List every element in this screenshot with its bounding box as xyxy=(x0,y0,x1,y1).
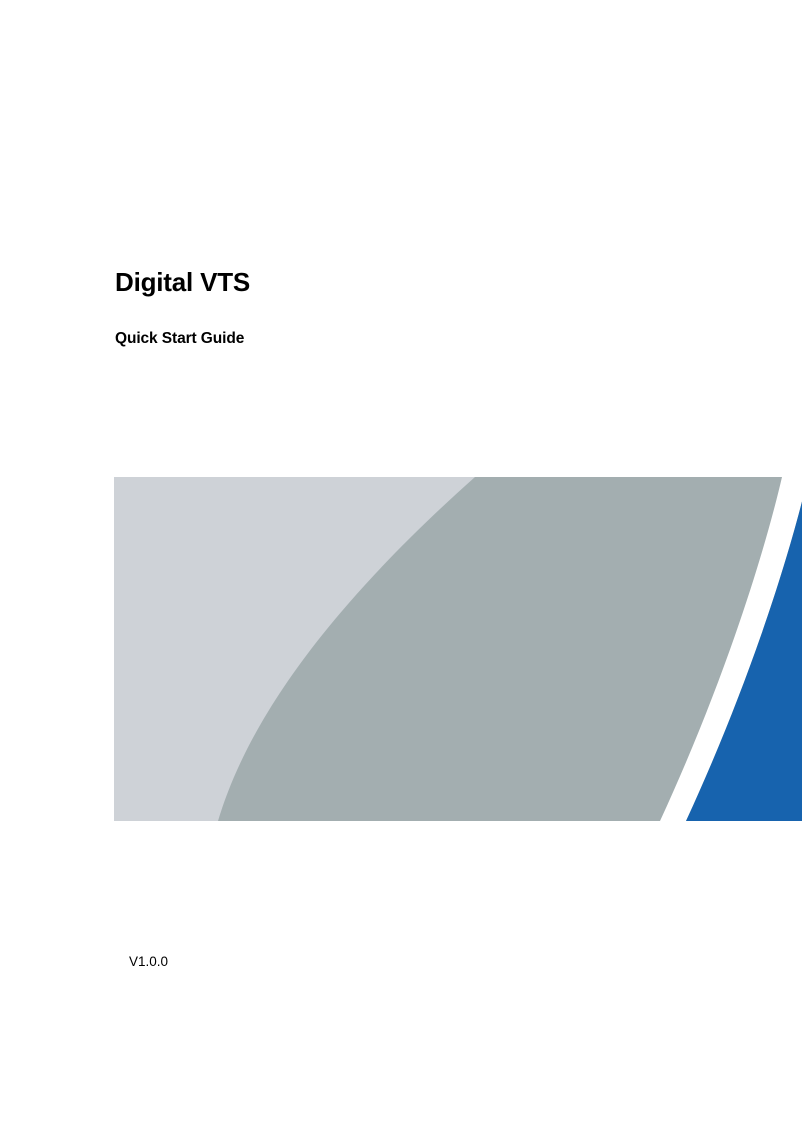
cover-decorative-banner xyxy=(114,477,802,821)
page-title: Digital VTS xyxy=(115,268,735,298)
page-subtitle: Quick Start Guide xyxy=(115,298,735,349)
version-label: V1.0.0 xyxy=(129,954,168,970)
cover-page: Digital VTS Quick Start Guide V1.0.0 xyxy=(0,0,802,1134)
title-block: Digital VTS Quick Start Guide xyxy=(115,268,735,348)
cover-banner-artwork xyxy=(114,477,802,821)
